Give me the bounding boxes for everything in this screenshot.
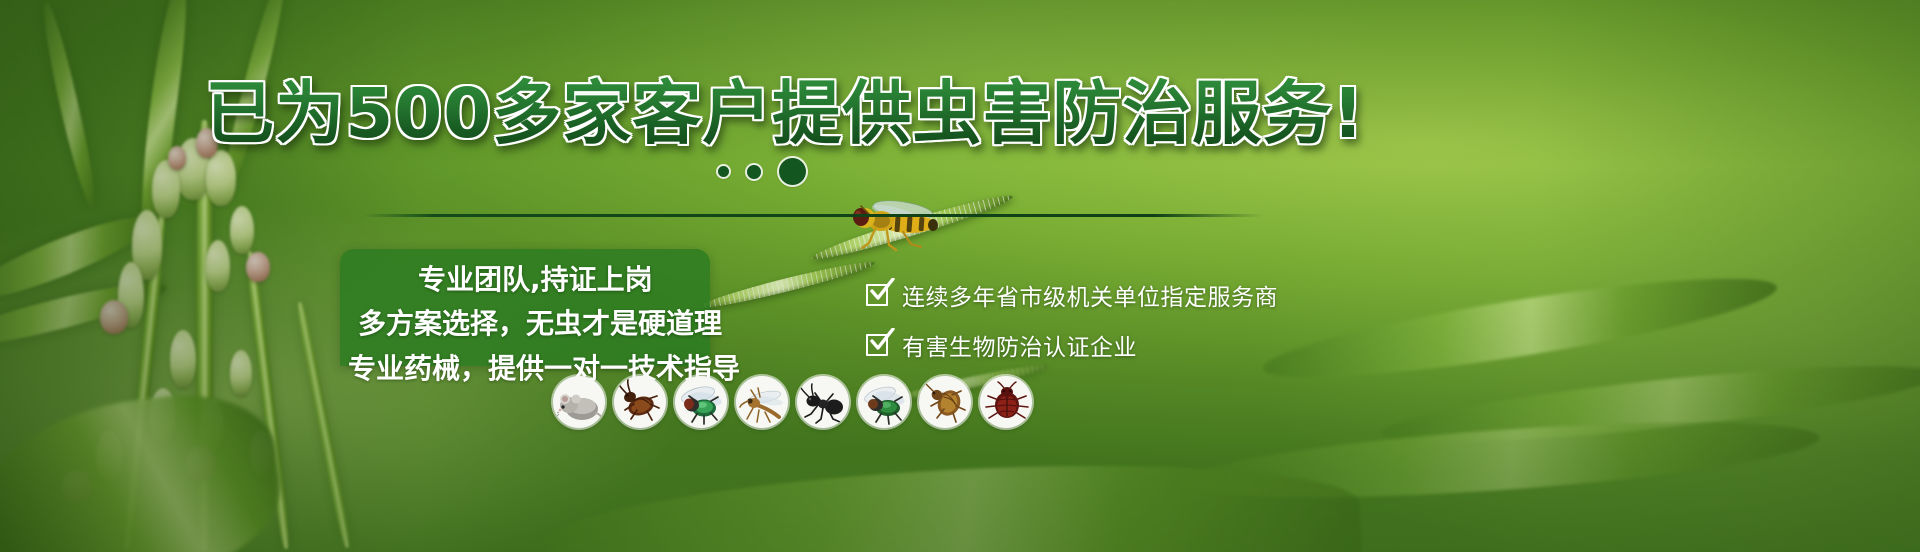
mosquito-icon[interactable] [736, 376, 788, 428]
housefly-icon[interactable] [858, 376, 910, 428]
mouse-icon[interactable] [553, 376, 605, 428]
feature-panel [340, 249, 710, 366]
ant-icon[interactable] [797, 376, 849, 428]
dot-medium-icon [747, 165, 761, 179]
credentials-list: 连续多年省市级机关单位指定服务商 有害生物防治认证企业 [866, 273, 1278, 373]
cockroach-icon[interactable] [614, 376, 666, 428]
headline-container: 已为500多家客户提供虫害防治服务! [0, 76, 1570, 152]
checkbox-checked-icon [866, 332, 892, 358]
dot-large-icon [779, 158, 806, 185]
pest-control-hero-banner: 已为500多家客户提供虫害防治服务! 专业团队,持证上岗 多方案选择，无虫才是硬… [0, 0, 1920, 552]
checkbox-checked-icon [866, 282, 892, 308]
dot-small-icon [718, 166, 729, 177]
decorative-dots [718, 158, 806, 185]
blowfly-icon[interactable] [675, 376, 727, 428]
credential-label: 连续多年省市级机关单位指定服务商 [902, 278, 1278, 312]
bedbug-icon[interactable] [980, 376, 1032, 428]
decorative-divider-line [363, 214, 1263, 217]
credential-label: 有害生物防治认证企业 [902, 328, 1137, 362]
pest-type-icons [553, 376, 1032, 428]
list-item: 连续多年省市级机关单位指定服务商 [866, 273, 1278, 317]
flea-icon[interactable] [919, 376, 971, 428]
page-title: 已为500多家客户提供虫害防治服务! [205, 76, 1365, 152]
list-item: 有害生物防治认证企业 [866, 323, 1278, 367]
